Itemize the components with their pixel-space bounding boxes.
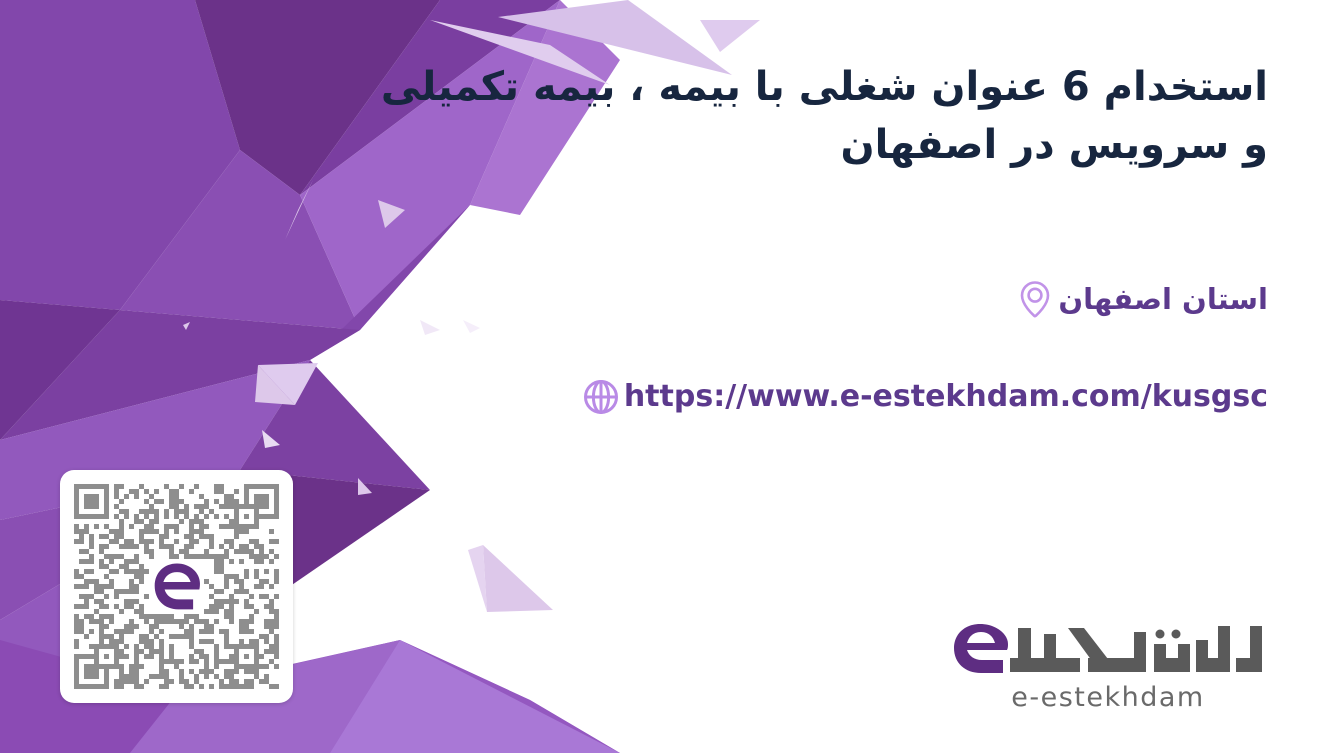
- brand-wordmark-latin: e-estekhdam: [948, 682, 1268, 713]
- website-url[interactable]: https://www.e-estekhdam.com/kusgsc: [624, 382, 1268, 412]
- title-line-2: و سرویس در اصفهان: [368, 116, 1268, 174]
- qr-center-logo-e-icon: [146, 556, 208, 618]
- location-row: استان اصفهان: [994, 276, 1268, 322]
- qr-code[interactable]: [74, 484, 279, 689]
- qr-code-card[interactable]: [60, 470, 293, 703]
- job-poster: استخدام 6 عنوان شغلی با بیمه ، بیمه تکمی…: [0, 0, 1340, 753]
- brand-wordmark-fa: [948, 618, 1268, 680]
- location-label: استان اصفهان: [1058, 285, 1268, 314]
- website-row[interactable]: https://www.e-estekhdam.com/kusgsc: [560, 374, 1268, 420]
- brand-logo: e-estekhdam: [948, 618, 1268, 713]
- globe-icon: [578, 374, 624, 420]
- page-title: استخدام 6 عنوان شغلی با بیمه ، بیمه تکمی…: [368, 58, 1268, 174]
- map-pin-icon: [1012, 276, 1058, 322]
- title-line-1: استخدام 6 عنوان شغلی با بیمه ، بیمه تکمی…: [368, 58, 1268, 116]
